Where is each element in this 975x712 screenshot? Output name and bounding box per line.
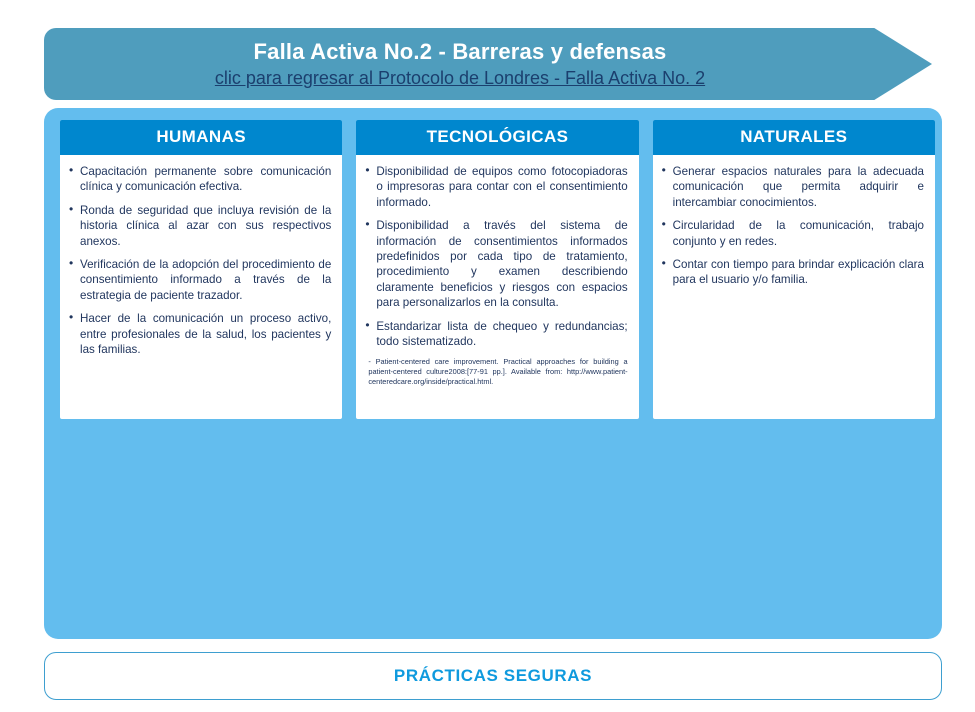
list-item: Estandarizar lista de chequeo y redundan… bbox=[365, 319, 627, 350]
column-body-humanas: Capacitación permanente sobre comunicaci… bbox=[60, 155, 342, 419]
citation-reference: - Patient-centered care improvement. Pra… bbox=[365, 357, 627, 387]
list-item: Disponibilidad de equipos como fotocopia… bbox=[365, 164, 627, 210]
column-header-tecnologicas: TECNOLÓGICAS bbox=[356, 120, 638, 155]
list-item: Hacer de la comunicación un proceso acti… bbox=[69, 311, 331, 357]
column-header-humanas: HUMANAS bbox=[60, 120, 342, 155]
back-to-protocol-link[interactable]: clic para regresar al Protocolo de Londr… bbox=[215, 69, 705, 89]
column-body-tecnologicas: Disponibilidad de equipos como fotocopia… bbox=[356, 155, 638, 419]
page-title: Falla Activa No.2 - Barreras y defensas bbox=[254, 40, 667, 64]
list-item: Circularidad de la comunicación, trabajo… bbox=[662, 218, 924, 249]
list-item: Capacitación permanente sobre comunicaci… bbox=[69, 164, 331, 195]
practicas-seguras-label: PRÁCTICAS SEGURAS bbox=[394, 666, 592, 686]
column-card-tecnologicas: TECNOLÓGICAS Disponibilidad de equipos c… bbox=[356, 120, 638, 419]
header-banner: Falla Activa No.2 - Barreras y defensas … bbox=[44, 28, 932, 100]
bullet-list-humanas: Capacitación permanente sobre comunicaci… bbox=[69, 164, 331, 357]
bullet-list-naturales: Generar espacios naturales para la adecu… bbox=[662, 164, 924, 288]
header-banner-arrow: Falla Activa No.2 - Barreras y defensas … bbox=[44, 28, 932, 100]
list-item: Generar espacios naturales para la adecu… bbox=[662, 164, 924, 210]
column-header-naturales: NATURALES bbox=[653, 120, 935, 155]
column-card-humanas: HUMANAS Capacitación permanente sobre co… bbox=[60, 120, 342, 419]
list-item: Verificación de la adopción del procedim… bbox=[69, 257, 331, 303]
column-body-naturales: Generar espacios naturales para la adecu… bbox=[653, 155, 935, 419]
list-item: Ronda de seguridad que incluya revisión … bbox=[69, 203, 331, 249]
list-item: Contar con tiempo para brindar explicaci… bbox=[662, 257, 924, 288]
bullet-list-tecnologicas: Disponibilidad de equipos como fotocopia… bbox=[365, 164, 627, 349]
column-card-naturales: NATURALES Generar espacios naturales par… bbox=[653, 120, 935, 419]
practicas-seguras-bar[interactable]: PRÁCTICAS SEGURAS bbox=[44, 652, 942, 700]
list-item: Disponibilidad a través del sistema de i… bbox=[365, 218, 627, 310]
content-panel: HUMANAS Capacitación permanente sobre co… bbox=[44, 108, 942, 639]
columns-container: HUMANAS Capacitación permanente sobre co… bbox=[60, 120, 935, 419]
